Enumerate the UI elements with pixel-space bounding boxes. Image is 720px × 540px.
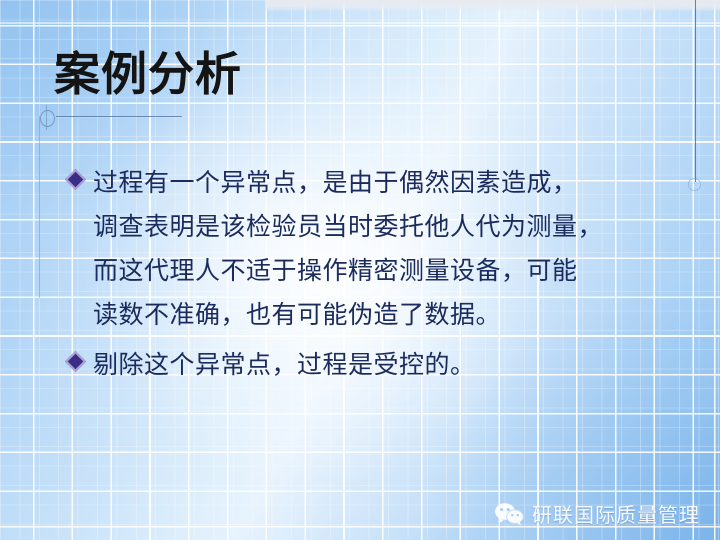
list-item: 过程有一个异常点，是由于偶然因素造成， 调查表明是该检验员当时委托他人代为测量，… — [68, 161, 668, 337]
bullet-text: 过程有一个异常点，是由于偶然因素造成， 调查表明是该检验员当时委托他人代为测量，… — [93, 161, 668, 337]
watermark: 研联国际质量管理 — [494, 499, 700, 528]
left-vertical-rule — [39, 116, 40, 298]
top-scan-line — [0, 22, 720, 24]
body-content: 过程有一个异常点，是由于偶然因素造成， 调查表明是该检验员当时委托他人代为测量，… — [68, 161, 668, 393]
page-title: 案例分析 — [54, 50, 242, 98]
top-edge-band — [266, 0, 720, 11]
diamond-bullet-icon — [65, 351, 86, 372]
slide-canvas: 案例分析 过程有一个异常点，是由于偶然因素造成， 调查表明是该检验员当时委托他人… — [0, 0, 720, 540]
bullet-line: 调查表明是该检验员当时委托他人代为测量， — [93, 205, 668, 249]
title-underline-rule — [56, 116, 182, 117]
bullet-line: 而这代理人不适于操作精密测量设备，可能 — [93, 249, 668, 293]
right-rule-endpoint-circle-icon — [688, 178, 701, 191]
right-vertical-rule — [695, 0, 696, 182]
title-rule-circle-icon — [40, 110, 55, 127]
bullet-line: 过程有一个异常点，是由于偶然因素造成， — [93, 161, 668, 205]
watermark-text: 研联国际质量管理 — [532, 499, 700, 528]
list-item: 剔除这个异常点，过程是受控的。 — [68, 343, 668, 387]
diamond-bullet-icon — [65, 169, 86, 190]
bullet-line: 读数不准确，也有可能伪造了数据。 — [93, 293, 668, 337]
bullet-text: 剔除这个异常点，过程是受控的。 — [93, 343, 668, 387]
bullet-line: 剔除这个异常点，过程是受控的。 — [93, 343, 668, 387]
wechat-icon — [494, 502, 524, 526]
